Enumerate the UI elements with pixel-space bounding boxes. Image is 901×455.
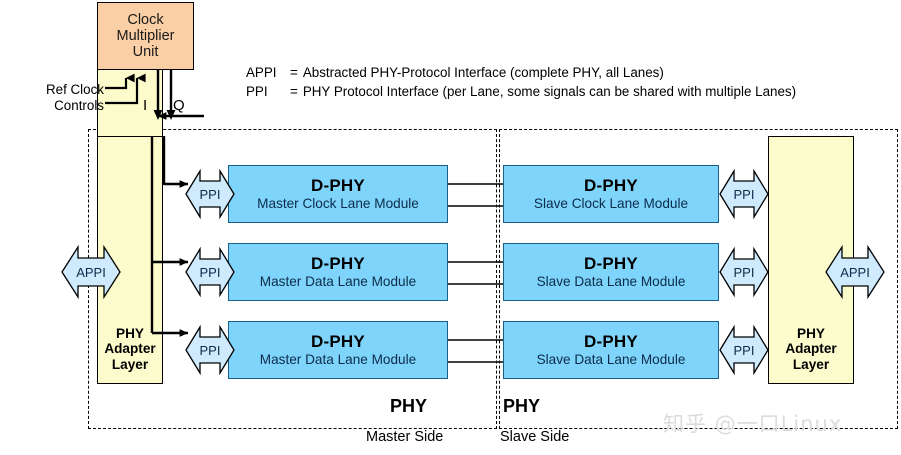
slave-side-label: Slave Side: [500, 429, 569, 445]
slave-phy-label: PHY: [503, 396, 540, 417]
master-side-label: Master Side: [366, 429, 443, 445]
ref-clock-line: [105, 78, 126, 88]
controls-line: [105, 78, 137, 103]
watermark: 知乎 @一口Linux: [663, 408, 842, 438]
diagram-canvas: PHY Adapter Layer PHY Adapter Layer Cloc…: [0, 0, 901, 455]
connection-lines-overlay: [0, 0, 901, 455]
master-phy-label: PHY: [390, 396, 427, 417]
